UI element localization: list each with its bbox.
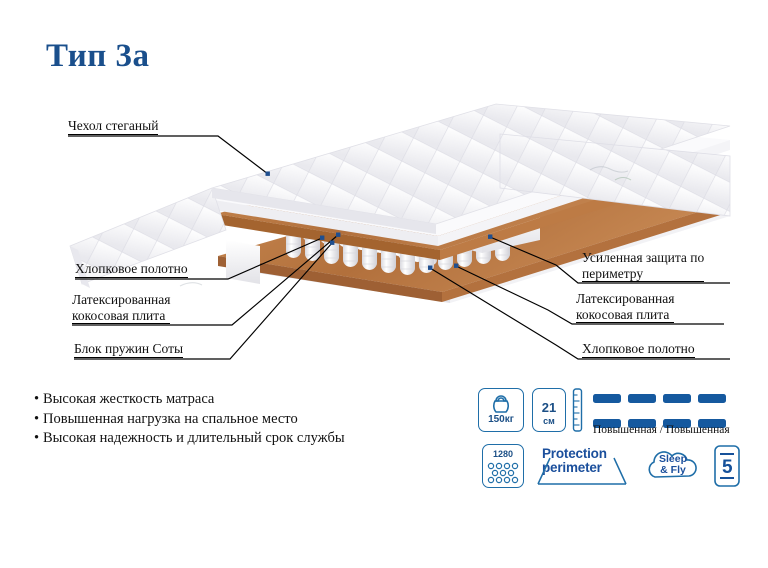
page-root: Тип 3а <box>0 0 768 568</box>
firmness-bar <box>593 394 621 403</box>
callout-cotton-felt-left-line-0: Хлопковое полотно <box>75 261 188 278</box>
feature-list-item-2: •Высокая надежность и длительный срок сл… <box>34 429 345 449</box>
callout-spring-block-line-0: Блок пружин Соты <box>74 341 183 358</box>
height-value: 21 <box>533 400 565 415</box>
height-badge: 21 см <box>532 388 566 432</box>
weight-value: 150кг <box>479 414 523 425</box>
callout-cotton-felt-right-line-0: Хлопковое полотно <box>582 341 695 358</box>
callout-spring-block: Блок пружин Соты <box>74 341 183 358</box>
warranty-badge: 5 <box>710 444 744 488</box>
feature-list-item-1: •Повышенная нагрузка на спальное место <box>34 410 345 430</box>
bullet-dot-icon: • <box>34 410 43 430</box>
spring-count-icon <box>483 460 523 488</box>
firmness-bar <box>663 394 691 403</box>
spring-count-badge: 1280 <box>482 444 524 488</box>
callout-perimeter-protection-line-1: периметру <box>582 266 704 283</box>
warranty-value: 5 <box>722 457 733 479</box>
perimeter-foam-front-left <box>226 240 260 284</box>
firmness-caption: Повышенная / Повышенная <box>593 424 730 436</box>
weight-badge: 150кг <box>478 388 524 432</box>
feature-text-1: Повышенная нагрузка на спальное место <box>43 411 298 427</box>
page-title: Тип 3а <box>46 38 149 75</box>
callout-quilted-cover: Чехол стеганый <box>68 118 158 135</box>
callout-coconut-slab-left-line-0: Латексированная <box>72 292 170 308</box>
protection-perimeter-logo: Protection perimeter <box>536 446 632 488</box>
ruler-icon <box>571 388 583 432</box>
height-unit: см <box>533 416 565 426</box>
callout-cotton-felt-right: Хлопковое полотно <box>582 341 695 358</box>
callout-coconut-slab-right: Латексированная кокосовая плита <box>576 291 674 323</box>
callout-quilted-cover-line-0: Чехол стеганый <box>68 118 158 135</box>
callout-coconut-slab-right-line-1: кокосовая плита <box>576 307 674 324</box>
firmness-bar-row-0 <box>593 390 733 408</box>
firmness-bar <box>628 394 656 403</box>
spec-badges: 150кг 21 см Повышенная <box>478 388 758 498</box>
feature-text-2: Высокая надежность и длительный срок слу… <box>43 430 345 446</box>
callout-coconut-slab-left-line-1: кокосовая плита <box>72 308 170 325</box>
callout-cotton-felt-left: Хлопковое полотно <box>75 261 188 278</box>
callout-coconut-slab-left: Латексированная кокосовая плита <box>72 292 170 324</box>
callout-coconut-slab-right-line-0: Латексированная <box>576 291 674 307</box>
callout-perimeter-protection-line-0: Усиленная защита по <box>582 250 704 266</box>
weight-kettlebell-icon <box>479 391 523 416</box>
feature-list-item-0: •Высокая жесткость матраса <box>34 390 345 410</box>
callout-perimeter-protection: Усиленная защита по периметру <box>582 250 704 282</box>
sleep-and-fly-cloud-logo: Sleep & Fly <box>642 444 704 488</box>
protection-perimeter-frame-icon <box>536 446 632 488</box>
firmness-bar <box>698 394 726 403</box>
bullet-dot-icon: • <box>34 390 43 410</box>
bullet-dot-icon: • <box>34 429 43 449</box>
feature-list: •Высокая жесткость матраса •Повышенная н… <box>34 390 345 449</box>
brand-line-2: & Fly <box>650 465 696 476</box>
spring-count-value: 1280 <box>483 449 523 459</box>
feature-text-0: Высокая жесткость матраса <box>43 391 214 407</box>
